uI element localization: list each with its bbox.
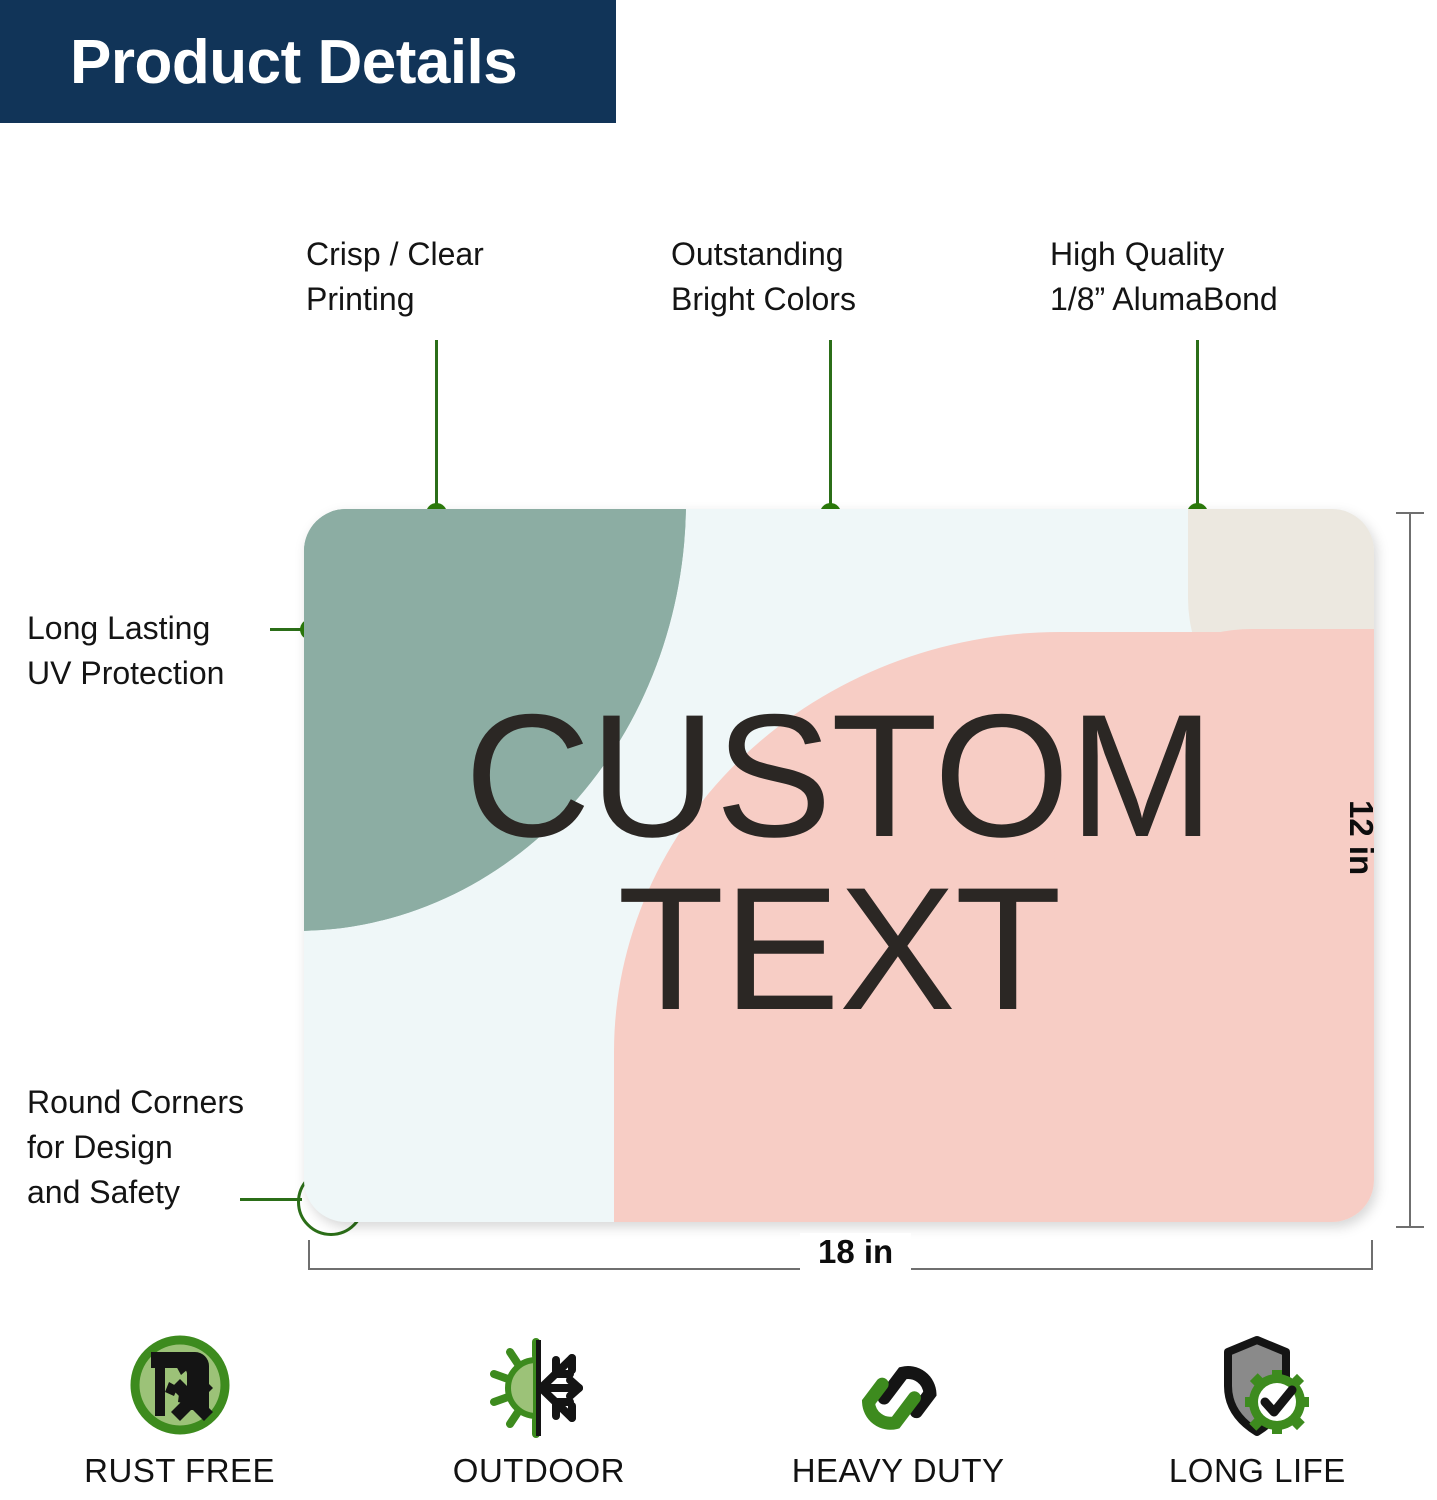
leader-line-bright bbox=[829, 340, 832, 512]
sign-face: CUSTOM TEXT bbox=[304, 509, 1374, 1222]
badge-label-long-life: LONG LIFE bbox=[1169, 1452, 1346, 1490]
chain-link-icon bbox=[839, 1330, 957, 1448]
shield-clock-check-icon bbox=[1198, 1330, 1316, 1448]
sign-text-line-1: CUSTOM bbox=[464, 693, 1213, 861]
product-details-infographic: Product Details Crisp / Clear Printing O… bbox=[0, 0, 1437, 1500]
dimension-label-width: 18 in bbox=[800, 1233, 911, 1271]
sign-text-line-2: TEXT bbox=[617, 861, 1060, 1039]
feature-badge-row: RUST FREE bbox=[0, 1330, 1437, 1500]
leader-line-quality bbox=[1196, 340, 1199, 512]
page-title: Product Details bbox=[70, 27, 517, 99]
callout-label-high-quality-alumabond: High Quality 1/8” AlumaBond bbox=[1050, 232, 1278, 322]
sign-custom-text: CUSTOM TEXT bbox=[304, 509, 1374, 1222]
rust-free-icon bbox=[121, 1330, 239, 1448]
callout-label-crisp-clear-printing: Crisp / Clear Printing bbox=[306, 232, 484, 322]
badge-rust-free: RUST FREE bbox=[30, 1330, 330, 1490]
badge-long-life: LONG LIFE bbox=[1107, 1330, 1407, 1490]
dimension-cap-width-left bbox=[308, 1240, 310, 1268]
sign-preview: CUSTOM TEXT bbox=[304, 509, 1374, 1222]
badge-label-rust-free: RUST FREE bbox=[84, 1452, 275, 1490]
badge-heavy-duty: HEAVY DUTY bbox=[748, 1330, 1048, 1490]
badge-outdoor: OUTDOOR bbox=[389, 1330, 689, 1490]
callout-label-long-lasting-uv-protection: Long Lasting UV Protection bbox=[27, 606, 224, 696]
dimension-line-height bbox=[1409, 512, 1411, 1228]
callout-label-outstanding-bright-colors: Outstanding Bright Colors bbox=[671, 232, 856, 322]
leader-line-crisp bbox=[435, 340, 438, 512]
dimension-cap-width-right bbox=[1371, 1240, 1373, 1268]
callout-label-round-corners: Round Corners for Design and Safety bbox=[27, 1080, 244, 1215]
dimension-label-height: 12 in bbox=[1342, 800, 1380, 875]
dimension-cap-height-bottom bbox=[1396, 1226, 1424, 1228]
sun-snowflake-icon bbox=[480, 1330, 598, 1448]
badge-label-outdoor: OUTDOOR bbox=[453, 1452, 625, 1490]
dimension-cap-height-top bbox=[1396, 512, 1424, 514]
leader-line-round-corners bbox=[240, 1198, 302, 1201]
badge-label-heavy-duty: HEAVY DUTY bbox=[792, 1452, 1005, 1490]
